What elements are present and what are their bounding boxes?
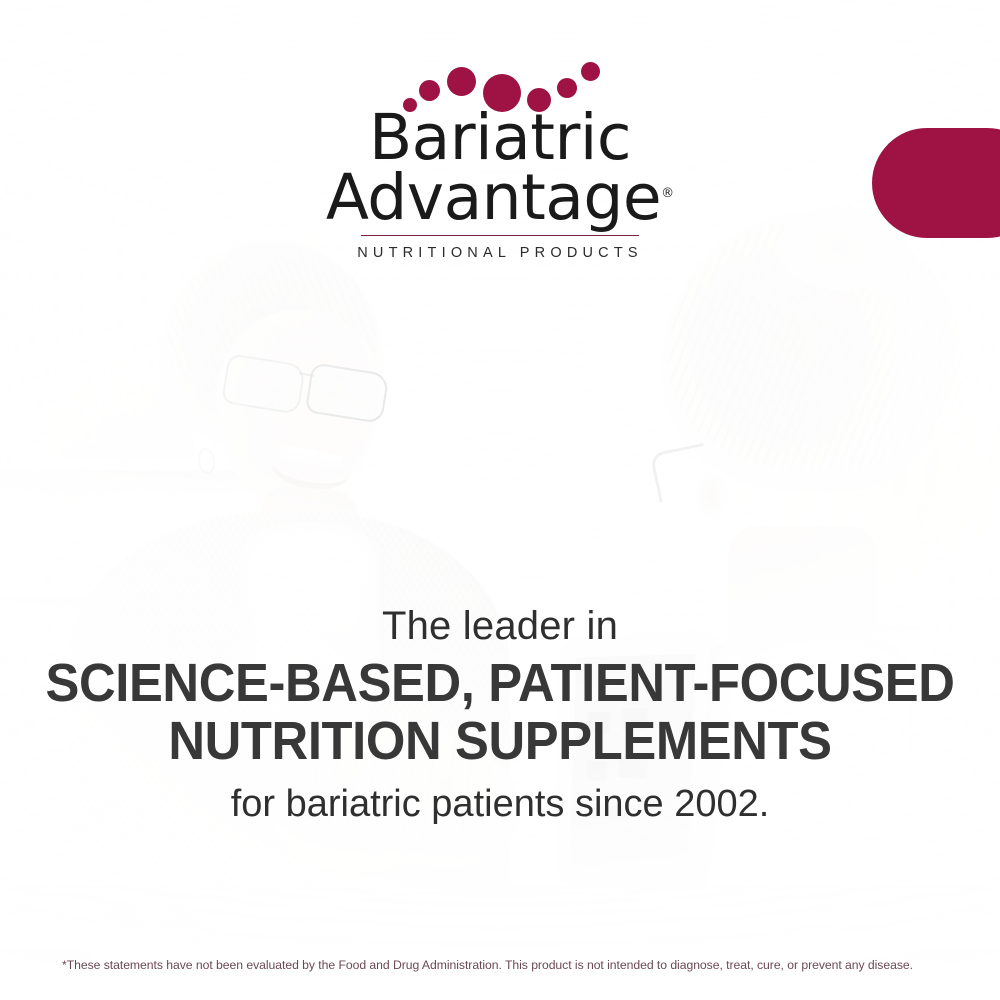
logo-dot	[403, 98, 417, 112]
lens-right	[305, 362, 390, 424]
logo-dot	[581, 62, 600, 81]
maroon-dot-arc-icon	[385, 62, 615, 114]
logo-wordmark-line1: Bariatric	[0, 108, 1000, 168]
headline-block: The leader in SCIENCE-BASED, PATIENT-FOC…	[0, 604, 1000, 827]
bottle-cap	[166, 914, 200, 944]
logo-dot	[447, 67, 476, 96]
brand-logo: Bariatric Advantage® NUTRITIONAL PRODUCT…	[0, 62, 1000, 261]
logo-dot	[557, 78, 577, 98]
logo-wordmark-line2: Advantage®	[326, 168, 674, 228]
headline-eyebrow: The leader in	[0, 604, 1000, 649]
headline-line-1: SCIENCE-BASED, PATIENT-FOCUSED	[30, 653, 970, 713]
headline-line-2: NUTRITION SUPPLEMENTS	[30, 711, 970, 771]
supplement-bottle	[90, 906, 154, 984]
logo-dot	[419, 80, 440, 101]
lens-left	[221, 353, 306, 415]
earring	[196, 447, 216, 475]
logo-divider-rule	[361, 235, 639, 237]
photo-person-left	[120, 236, 500, 936]
ear	[694, 472, 728, 520]
brand-banner: Bariatric Advantage® NUTRITIONAL PRODUCT…	[0, 0, 1000, 1000]
fda-disclaimer: *These statements have not been evaluate…	[62, 958, 935, 972]
logo-subtitle: NUTRITIONAL PRODUCTS	[0, 245, 1000, 261]
headline-tagline: for bariatric patients since 2002.	[0, 782, 1000, 827]
logo-dot	[527, 88, 551, 112]
registered-trademark-icon: ®	[661, 186, 674, 201]
logo-wordmark-line2-text: Advantage	[326, 161, 661, 234]
desk-edge	[0, 886, 1000, 888]
logo-dot	[483, 74, 521, 112]
